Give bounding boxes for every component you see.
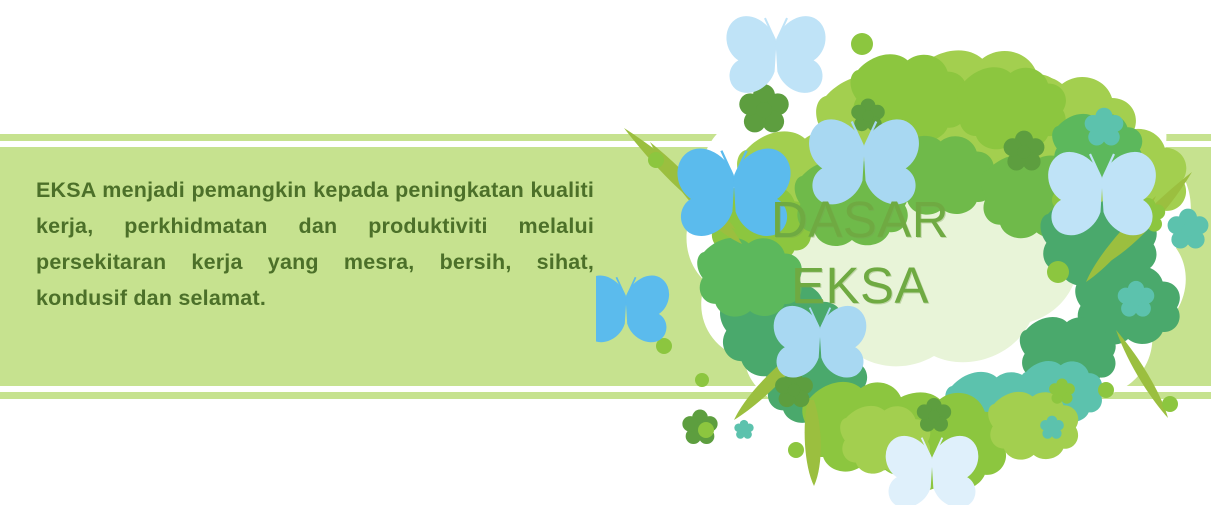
butterfly-blue-small [596, 276, 669, 342]
eksa-policy-banner: EKSA menjadi pemangkin kepada peningkata… [0, 0, 1211, 505]
vision-statement: EKSA menjadi pemangkin kepada peningkata… [36, 172, 594, 316]
foliage-wreath-illustration [596, 0, 1211, 505]
